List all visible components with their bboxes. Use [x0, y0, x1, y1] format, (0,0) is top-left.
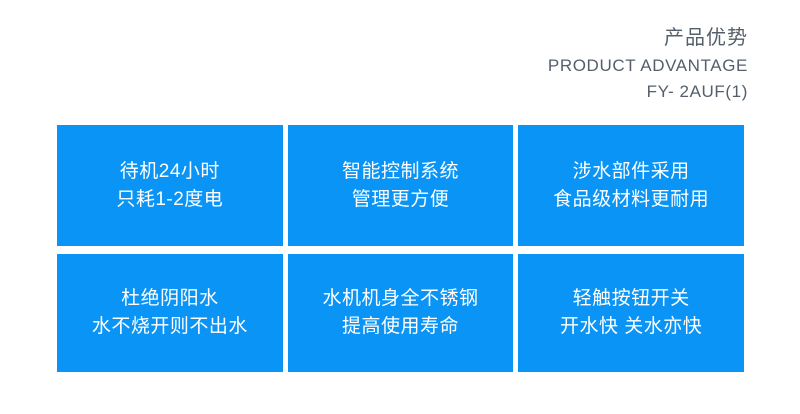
- advantage-card-6-line-1: 轻触按钮开关: [573, 285, 690, 313]
- advantage-card-3: 涉水部件采用 食品级材料更耐用: [518, 125, 744, 246]
- advantage-card-5: 水机机身全不锈钢 提高使用寿命: [288, 254, 514, 372]
- advantage-card-2-line-2: 管理更方便: [352, 186, 450, 214]
- advantage-card-6-line-2: 开水快 关水亦快: [560, 313, 702, 341]
- page-title-chinese: 产品优势: [548, 28, 748, 48]
- advantage-card-grid: 待机24小时 只耗1-2度电 智能控制系统 管理更方便 涉水部件采用 食品级材料…: [57, 125, 744, 372]
- advantage-card-1-line-1: 待机24小时: [120, 158, 220, 186]
- page-title-english: PRODUCT ADVANTAGE: [548, 57, 748, 74]
- product-model-label: FY- 2AUF(1): [548, 83, 748, 100]
- advantage-card-4-line-1: 杜绝阴阳水: [121, 285, 219, 313]
- advantage-card-2: 智能控制系统 管理更方便: [288, 125, 514, 246]
- advantage-card-1: 待机24小时 只耗1-2度电: [57, 125, 283, 246]
- advantage-card-3-line-2: 食品级材料更耐用: [553, 186, 709, 214]
- advantage-card-3-line-1: 涉水部件采用: [573, 158, 690, 186]
- advantage-card-2-line-1: 智能控制系统: [342, 158, 459, 186]
- advantage-card-4-line-2: 水不烧开则不出水: [92, 313, 248, 341]
- advantage-card-1-line-2: 只耗1-2度电: [116, 186, 223, 214]
- advantage-card-5-line-1: 水机机身全不锈钢: [322, 285, 478, 313]
- advantage-card-4: 杜绝阴阳水 水不烧开则不出水: [57, 254, 283, 372]
- advantage-card-6: 轻触按钮开关 开水快 关水亦快: [518, 254, 744, 372]
- product-advantage-page: 产品优势 PRODUCT ADVANTAGE FY- 2AUF(1) 待机24小…: [0, 0, 800, 414]
- advantage-card-5-line-2: 提高使用寿命: [342, 313, 459, 341]
- page-header: 产品优势 PRODUCT ADVANTAGE FY- 2AUF(1): [548, 28, 748, 100]
